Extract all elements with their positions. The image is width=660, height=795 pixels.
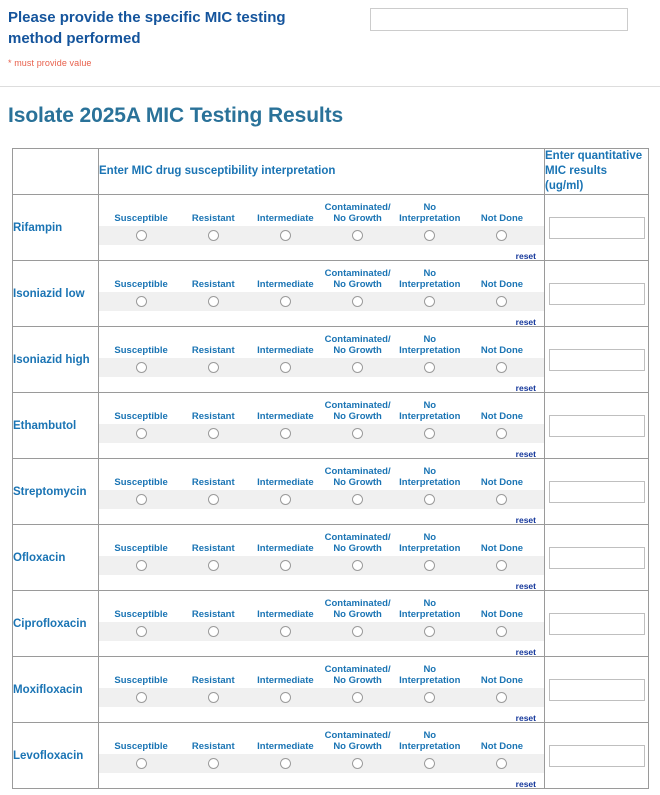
radio-button-icon[interactable] <box>280 758 291 769</box>
option-label: Susceptible <box>105 345 177 356</box>
reset-link[interactable]: reset <box>516 317 536 327</box>
radio-button-icon[interactable] <box>208 362 219 373</box>
matrix-header-row: Enter MIC drug susceptibility interpreta… <box>13 149 649 195</box>
radio-button-icon[interactable] <box>208 296 219 307</box>
radio-button-icon[interactable] <box>280 560 291 571</box>
option-label: Not Done <box>466 213 538 224</box>
radio-cell[interactable] <box>322 296 394 307</box>
radio-cell[interactable] <box>394 560 466 571</box>
radio-cell[interactable] <box>105 560 177 571</box>
radio-cell[interactable] <box>322 494 394 505</box>
interpretation-choices-cell: SusceptibleResistantIntermediateContamin… <box>99 327 545 393</box>
option-label: Resistant <box>177 279 249 290</box>
option-label: Intermediate <box>249 279 321 290</box>
radio-button-icon[interactable] <box>352 626 363 637</box>
radio-cell[interactable] <box>466 230 538 241</box>
reset-row: reset <box>99 641 544 654</box>
radio-cell[interactable] <box>177 758 249 769</box>
radio-button-icon[interactable] <box>496 692 507 703</box>
radio-cell[interactable] <box>249 428 321 439</box>
drug-name-cell: Isoniazid high <box>13 327 99 393</box>
table-row: LevofloxacinSusceptibleResistantIntermed… <box>13 723 649 789</box>
mic-value-input[interactable] <box>549 481 645 503</box>
radio-band <box>99 754 544 773</box>
mic-value-input[interactable] <box>549 745 645 767</box>
interpretation-choices-cell: SusceptibleResistantIntermediateContamin… <box>99 459 545 525</box>
option-label: Not Done <box>466 741 538 752</box>
option-label: Intermediate <box>249 543 321 554</box>
reset-link[interactable]: reset <box>516 779 536 789</box>
table-row: Isoniazid lowSusceptibleResistantInterme… <box>13 261 649 327</box>
radio-cell[interactable] <box>394 230 466 241</box>
radio-button-icon[interactable] <box>496 362 507 373</box>
radio-button-icon[interactable] <box>280 362 291 373</box>
mic-value-input[interactable] <box>549 547 645 569</box>
drug-name-cell: Isoniazid low <box>13 261 99 327</box>
radio-button-icon[interactable] <box>208 230 219 241</box>
option-label: Intermediate <box>249 609 321 620</box>
interpretation-choices-cell: SusceptibleResistantIntermediateContamin… <box>99 525 545 591</box>
reset-link[interactable]: reset <box>516 647 536 657</box>
radio-button-icon[interactable] <box>136 626 147 637</box>
radio-cell[interactable] <box>394 692 466 703</box>
option-label: Not Done <box>466 279 538 290</box>
reset-row: reset <box>99 245 544 258</box>
interpretation-choices-cell: SusceptibleResistantIntermediateContamin… <box>99 393 545 459</box>
option-labels: SusceptibleResistantIntermediateContamin… <box>99 329 544 358</box>
quantitative-result-cell <box>545 261 649 327</box>
radio-cell[interactable] <box>177 296 249 307</box>
radio-button-icon[interactable] <box>352 428 363 439</box>
radio-cell[interactable] <box>249 758 321 769</box>
radio-cell[interactable] <box>466 692 538 703</box>
radio-button-icon[interactable] <box>352 296 363 307</box>
radio-cell[interactable] <box>177 230 249 241</box>
drug-name-cell: Streptomycin <box>13 459 99 525</box>
radio-cell[interactable] <box>322 428 394 439</box>
option-label: Contaminated/ No Growth <box>322 334 394 356</box>
radio-button-icon[interactable] <box>208 494 219 505</box>
radio-cell[interactable] <box>177 362 249 373</box>
table-row: StreptomycinSusceptibleResistantIntermed… <box>13 459 649 525</box>
reset-link[interactable]: reset <box>516 713 536 723</box>
interpretation-choices-cell: SusceptibleResistantIntermediateContamin… <box>99 723 545 789</box>
option-label: Intermediate <box>249 345 321 356</box>
option-label: No Interpretation <box>394 598 466 620</box>
quantitative-column-header: Enter quantitative MIC results (ug/ml) <box>545 149 649 195</box>
quantitative-result-cell <box>545 195 649 261</box>
option-labels: SusceptibleResistantIntermediateContamin… <box>99 593 544 622</box>
table-row: EthambutolSusceptibleResistantIntermedia… <box>13 393 649 459</box>
radio-cell[interactable] <box>177 428 249 439</box>
radio-button-icon[interactable] <box>352 230 363 241</box>
mic-value-input[interactable] <box>549 217 645 239</box>
quantitative-result-cell <box>545 327 649 393</box>
radio-button-icon[interactable] <box>424 230 435 241</box>
question-label: Please provide the specific MIC testing … <box>8 7 338 49</box>
page-title: Isolate 2025A MIC Testing Results <box>0 87 660 128</box>
radio-cell[interactable] <box>105 692 177 703</box>
option-label: No Interpretation <box>394 532 466 554</box>
option-label: Contaminated/ No Growth <box>322 268 394 290</box>
reset-link[interactable]: reset <box>516 383 536 393</box>
radio-button-icon[interactable] <box>496 758 507 769</box>
radio-band <box>99 226 544 245</box>
radio-cell[interactable] <box>322 362 394 373</box>
radio-cell[interactable] <box>394 362 466 373</box>
interpretation-choices-cell: SusceptibleResistantIntermediateContamin… <box>99 591 545 657</box>
table-row: Isoniazid highSusceptibleResistantInterm… <box>13 327 649 393</box>
radio-cell[interactable] <box>105 758 177 769</box>
radio-cell[interactable] <box>177 626 249 637</box>
radio-button-icon[interactable] <box>496 494 507 505</box>
drug-name-cell: Moxifloxacin <box>13 657 99 723</box>
radio-button-icon[interactable] <box>136 362 147 373</box>
radio-cell[interactable] <box>105 296 177 307</box>
radio-button-icon[interactable] <box>208 428 219 439</box>
reset-row: reset <box>99 707 544 720</box>
table-row: OfloxacinSusceptibleResistantIntermediat… <box>13 525 649 591</box>
option-labels: SusceptibleResistantIntermediateContamin… <box>99 527 544 556</box>
required-note: * must provide value <box>8 58 92 68</box>
option-label: Not Done <box>466 477 538 488</box>
radio-cell[interactable] <box>466 758 538 769</box>
radio-cell[interactable] <box>249 362 321 373</box>
radio-button-icon[interactable] <box>424 494 435 505</box>
drug-name-cell: Ofloxacin <box>13 525 99 591</box>
mic-results-matrix: Enter MIC drug susceptibility interpreta… <box>12 148 648 789</box>
reset-row: reset <box>99 773 544 786</box>
option-label: Resistant <box>177 675 249 686</box>
option-label: Not Done <box>466 345 538 356</box>
radio-button-icon[interactable] <box>136 494 147 505</box>
radio-button-icon[interactable] <box>352 362 363 373</box>
mic-value-input[interactable] <box>549 679 645 701</box>
radio-cell[interactable] <box>466 428 538 439</box>
option-label: Susceptible <box>105 543 177 554</box>
radio-band <box>99 490 544 509</box>
reset-row: reset <box>99 443 544 456</box>
interpretation-choices-cell: SusceptibleResistantIntermediateContamin… <box>99 261 545 327</box>
option-label: Contaminated/ No Growth <box>322 202 394 224</box>
option-label: Not Done <box>466 675 538 686</box>
radio-button-icon[interactable] <box>424 560 435 571</box>
option-labels: SusceptibleResistantIntermediateContamin… <box>99 197 544 226</box>
radio-cell[interactable] <box>394 296 466 307</box>
option-labels: SusceptibleResistantIntermediateContamin… <box>99 395 544 424</box>
option-label: Susceptible <box>105 477 177 488</box>
quantitative-result-cell <box>545 591 649 657</box>
radio-band <box>99 688 544 707</box>
reset-row: reset <box>99 575 544 588</box>
drug-name-cell: Levofloxacin <box>13 723 99 789</box>
mic-value-input[interactable] <box>549 415 645 437</box>
radio-cell[interactable] <box>249 296 321 307</box>
option-label: Not Done <box>466 609 538 620</box>
radio-button-icon[interactable] <box>280 626 291 637</box>
radio-button-icon[interactable] <box>136 758 147 769</box>
radio-cell[interactable] <box>105 230 177 241</box>
radio-band <box>99 292 544 311</box>
table-row: RifampinSusceptibleResistantIntermediate… <box>13 195 649 261</box>
option-label: No Interpretation <box>394 202 466 224</box>
option-label: No Interpretation <box>394 334 466 356</box>
radio-cell[interactable] <box>322 758 394 769</box>
option-label: Resistant <box>177 477 249 488</box>
option-labels: SusceptibleResistantIntermediateContamin… <box>99 263 544 292</box>
radio-button-icon[interactable] <box>208 692 219 703</box>
radio-button-icon[interactable] <box>424 626 435 637</box>
option-label: Contaminated/ No Growth <box>322 466 394 488</box>
quantitative-result-cell <box>545 393 649 459</box>
option-label: Intermediate <box>249 213 321 224</box>
radio-button-icon[interactable] <box>496 230 507 241</box>
radio-button-icon[interactable] <box>208 560 219 571</box>
reset-link[interactable]: reset <box>516 251 536 261</box>
option-label: Intermediate <box>249 411 321 422</box>
radio-button-icon[interactable] <box>496 428 507 439</box>
interpretation-column-header: Enter MIC drug susceptibility interpreta… <box>99 149 545 195</box>
option-label: Contaminated/ No Growth <box>322 532 394 554</box>
radio-band <box>99 556 544 575</box>
radio-button-icon[interactable] <box>136 560 147 571</box>
reset-row: reset <box>99 311 544 324</box>
radio-cell[interactable] <box>249 494 321 505</box>
radio-cell[interactable] <box>105 494 177 505</box>
radio-button-icon[interactable] <box>496 626 507 637</box>
interpretation-choices-cell: SusceptibleResistantIntermediateContamin… <box>99 657 545 723</box>
radio-button-icon[interactable] <box>424 758 435 769</box>
option-label: No Interpretation <box>394 730 466 752</box>
radio-cell[interactable] <box>249 692 321 703</box>
mic-value-input[interactable] <box>549 613 645 635</box>
mic-method-input[interactable] <box>370 8 628 31</box>
option-label: Intermediate <box>249 675 321 686</box>
radio-cell[interactable] <box>105 428 177 439</box>
option-label: Resistant <box>177 213 249 224</box>
option-label: Contaminated/ No Growth <box>322 730 394 752</box>
radio-cell[interactable] <box>322 560 394 571</box>
option-label: Resistant <box>177 741 249 752</box>
option-label: Susceptible <box>105 213 177 224</box>
radio-cell[interactable] <box>394 758 466 769</box>
reset-row: reset <box>99 377 544 390</box>
option-label: Resistant <box>177 345 249 356</box>
radio-button-icon[interactable] <box>352 692 363 703</box>
radio-band <box>99 622 544 641</box>
option-label: Susceptible <box>105 411 177 422</box>
radio-cell[interactable] <box>394 428 466 439</box>
mic-value-input[interactable] <box>549 349 645 371</box>
radio-cell[interactable] <box>394 494 466 505</box>
radio-cell[interactable] <box>105 626 177 637</box>
option-label: No Interpretation <box>394 400 466 422</box>
mic-value-input[interactable] <box>549 283 645 305</box>
radio-button-icon[interactable] <box>496 560 507 571</box>
table-row: CiprofloxacinSusceptibleResistantInterme… <box>13 591 649 657</box>
radio-button-icon[interactable] <box>352 494 363 505</box>
radio-cell[interactable] <box>394 626 466 637</box>
radio-cell[interactable] <box>177 560 249 571</box>
question-block: Please provide the specific MIC testing … <box>0 0 660 87</box>
radio-button-icon[interactable] <box>496 296 507 307</box>
option-label: No Interpretation <box>394 268 466 290</box>
table-row: MoxifloxacinSusceptibleResistantIntermed… <box>13 657 649 723</box>
reset-link[interactable]: reset <box>516 515 536 525</box>
reset-link[interactable]: reset <box>516 581 536 591</box>
option-label: Susceptible <box>105 609 177 620</box>
radio-cell[interactable] <box>466 362 538 373</box>
option-label: Resistant <box>177 543 249 554</box>
radio-button-icon[interactable] <box>136 428 147 439</box>
radio-button-icon[interactable] <box>280 230 291 241</box>
radio-button-icon[interactable] <box>424 428 435 439</box>
option-labels: SusceptibleResistantIntermediateContamin… <box>99 461 544 490</box>
option-label: Contaminated/ No Growth <box>322 598 394 620</box>
option-labels: SusceptibleResistantIntermediateContamin… <box>99 725 544 754</box>
reset-row: reset <box>99 509 544 522</box>
radio-cell[interactable] <box>177 494 249 505</box>
drug-column-header <box>13 149 99 195</box>
radio-cell[interactable] <box>177 692 249 703</box>
section-divider <box>0 86 660 87</box>
radio-button-icon[interactable] <box>424 296 435 307</box>
radio-button-icon[interactable] <box>208 758 219 769</box>
radio-cell[interactable] <box>466 296 538 307</box>
radio-cell[interactable] <box>466 494 538 505</box>
radio-cell[interactable] <box>249 560 321 571</box>
interpretation-choices-cell: SusceptibleResistantIntermediateContamin… <box>99 195 545 261</box>
radio-button-icon[interactable] <box>280 692 291 703</box>
drug-name-cell: Ciprofloxacin <box>13 591 99 657</box>
radio-cell[interactable] <box>466 560 538 571</box>
option-label: Not Done <box>466 543 538 554</box>
radio-button-icon[interactable] <box>424 692 435 703</box>
radio-button-icon[interactable] <box>352 758 363 769</box>
quantitative-result-cell <box>545 723 649 789</box>
radio-cell[interactable] <box>322 692 394 703</box>
radio-button-icon[interactable] <box>352 560 363 571</box>
option-label: Resistant <box>177 411 249 422</box>
quantitative-result-cell <box>545 459 649 525</box>
radio-button-icon[interactable] <box>136 692 147 703</box>
option-label: Intermediate <box>249 477 321 488</box>
drug-name-cell: Rifampin <box>13 195 99 261</box>
radio-button-icon[interactable] <box>136 230 147 241</box>
radio-band <box>99 424 544 443</box>
option-label: No Interpretation <box>394 466 466 488</box>
option-label: Contaminated/ No Growth <box>322 664 394 686</box>
quantitative-result-cell <box>545 657 649 723</box>
radio-band <box>99 358 544 377</box>
radio-cell[interactable] <box>105 362 177 373</box>
option-label: No Interpretation <box>394 664 466 686</box>
quantitative-result-cell <box>545 525 649 591</box>
radio-cell[interactable] <box>249 230 321 241</box>
drug-name-cell: Ethambutol <box>13 393 99 459</box>
radio-button-icon[interactable] <box>280 494 291 505</box>
option-label: Not Done <box>466 411 538 422</box>
radio-cell[interactable] <box>249 626 321 637</box>
option-label: Susceptible <box>105 741 177 752</box>
radio-cell[interactable] <box>466 626 538 637</box>
radio-button-icon[interactable] <box>280 296 291 307</box>
option-labels: SusceptibleResistantIntermediateContamin… <box>99 659 544 688</box>
option-label: Susceptible <box>105 279 177 290</box>
option-label: Contaminated/ No Growth <box>322 400 394 422</box>
radio-cell[interactable] <box>322 230 394 241</box>
radio-cell[interactable] <box>322 626 394 637</box>
radio-button-icon[interactable] <box>208 626 219 637</box>
radio-button-icon[interactable] <box>280 428 291 439</box>
option-label: Intermediate <box>249 741 321 752</box>
reset-link[interactable]: reset <box>516 449 536 459</box>
radio-button-icon[interactable] <box>136 296 147 307</box>
option-label: Susceptible <box>105 675 177 686</box>
option-label: Resistant <box>177 609 249 620</box>
radio-button-icon[interactable] <box>424 362 435 373</box>
